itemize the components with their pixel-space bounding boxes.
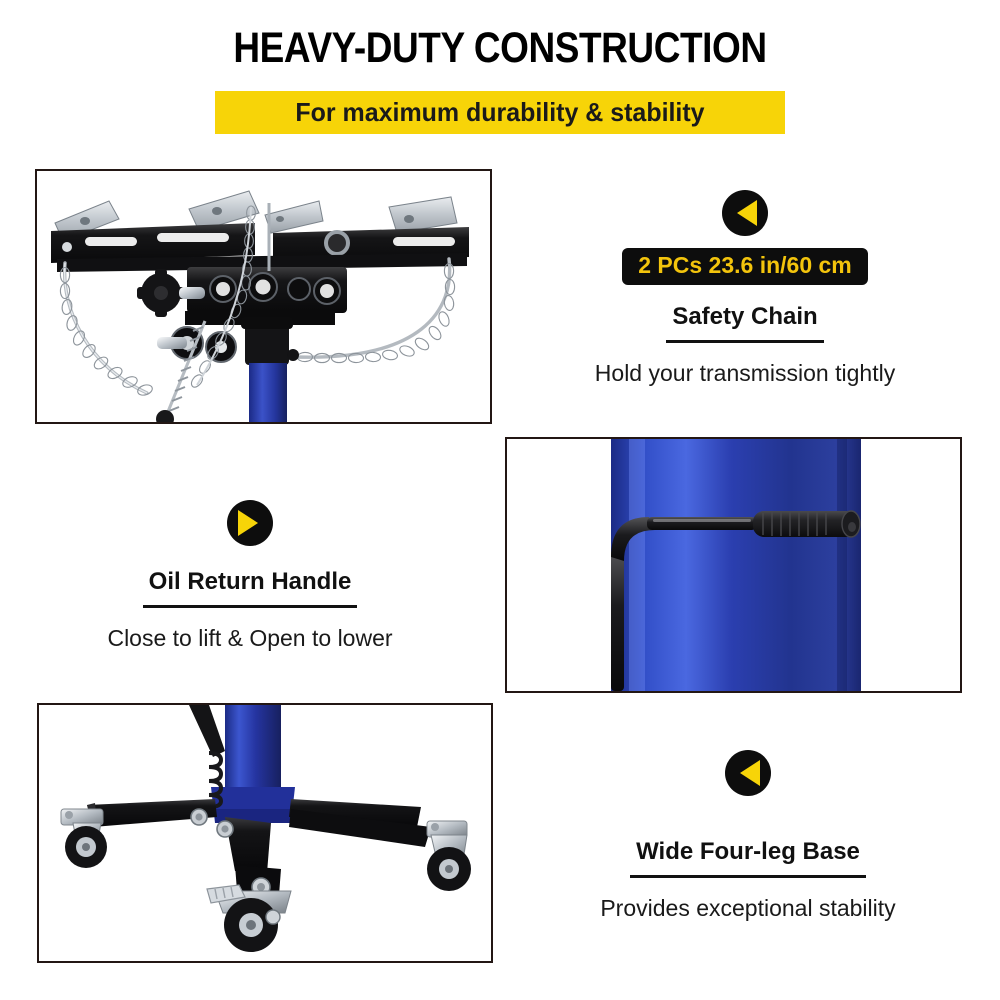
triangle-right-icon — [227, 500, 273, 546]
callout-desc-wide-four-leg-base: Provides exceptional stability — [548, 895, 948, 922]
callout-title-wide-four-leg-base: Wide Four-leg Base — [630, 838, 866, 878]
callout-desc-safety-chain: Hold your transmission tightly — [545, 360, 945, 387]
callout-wide-four-leg-base: Wide Four-leg Base Provides exceptional … — [548, 750, 948, 922]
saddle-photo-art — [37, 171, 490, 422]
triangle-left-icon — [722, 190, 768, 236]
callout-title-oil-return-handle: Oil Return Handle — [143, 568, 358, 608]
handle-photo-art — [507, 439, 960, 691]
base-photo — [37, 703, 493, 963]
handle-photo — [505, 437, 962, 693]
callout-title-safety-chain: Safety Chain — [666, 303, 823, 343]
saddle-photo — [35, 169, 492, 424]
callout-safety-chain: 2 PCs 23.6 in/60 cm Safety Chain Hold yo… — [545, 190, 945, 387]
page-subtitle: For maximum durability & stability — [226, 91, 773, 134]
safety-chain-badge: 2 PCs 23.6 in/60 cm — [622, 248, 868, 285]
triangle-left-icon — [725, 750, 771, 796]
base-photo-art — [39, 705, 491, 961]
callout-oil-return-handle: Oil Return Handle Close to lift & Open t… — [50, 500, 450, 652]
callout-desc-oil-return-handle: Close to lift & Open to lower — [50, 625, 450, 652]
page-title: HEAVY-DUTY CONSTRUCTION — [70, 26, 930, 71]
